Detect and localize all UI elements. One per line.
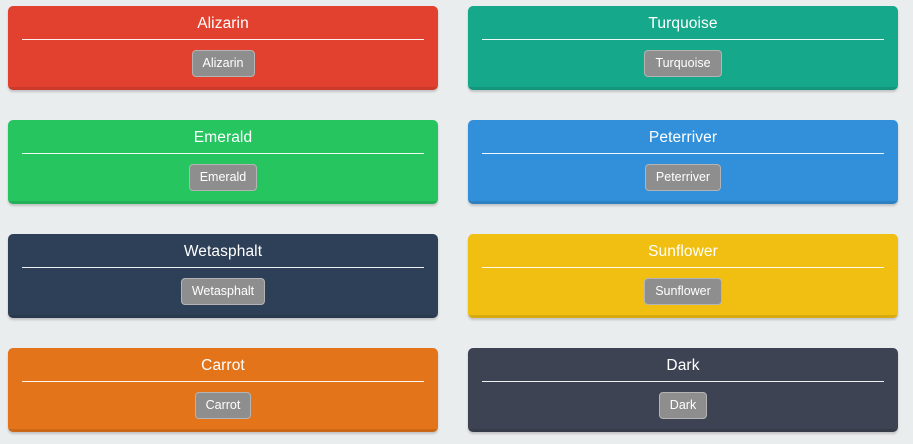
panel-title: Turquoise <box>482 14 884 33</box>
panel-title: Carrot <box>22 356 424 375</box>
panel-action-row: Peterriver <box>482 164 884 191</box>
panel-action-row: Wetasphalt <box>22 278 424 305</box>
panel-button-emerald[interactable]: Emerald <box>189 164 258 191</box>
panel-action-row: Sunflower <box>482 278 884 305</box>
color-panel-wetasphalt: Wetasphalt Wetasphalt <box>8 234 438 318</box>
panel-action-row: Turquoise <box>482 50 884 77</box>
color-panel-grid: Alizarin Alizarin Turquoise Turquoise Em… <box>0 0 913 432</box>
color-panel-peterriver: Peterriver Peterriver <box>468 120 898 204</box>
panel-button-carrot[interactable]: Carrot <box>195 392 252 419</box>
panel-action-row: Emerald <box>22 164 424 191</box>
color-panel-alizarin: Alizarin Alizarin <box>8 6 438 90</box>
panel-action-row: Dark <box>482 392 884 419</box>
panel-divider <box>22 153 424 154</box>
panel-button-peterriver[interactable]: Peterriver <box>645 164 721 191</box>
panel-button-dark[interactable]: Dark <box>659 392 707 419</box>
panel-divider <box>482 39 884 40</box>
panel-divider <box>22 381 424 382</box>
panel-divider <box>22 267 424 268</box>
panel-title: Sunflower <box>482 242 884 261</box>
panel-title: Dark <box>482 356 884 375</box>
color-panel-carrot: Carrot Carrot <box>8 348 438 432</box>
panel-title: Peterriver <box>482 128 884 147</box>
panel-button-alizarin[interactable]: Alizarin <box>192 50 255 77</box>
panel-title: Emerald <box>22 128 424 147</box>
color-panel-dark: Dark Dark <box>468 348 898 432</box>
panel-title: Wetasphalt <box>22 242 424 261</box>
panel-divider <box>22 39 424 40</box>
color-panel-emerald: Emerald Emerald <box>8 120 438 204</box>
panel-action-row: Carrot <box>22 392 424 419</box>
panel-title: Alizarin <box>22 14 424 33</box>
color-panel-sunflower: Sunflower Sunflower <box>468 234 898 318</box>
color-panel-turquoise: Turquoise Turquoise <box>468 6 898 90</box>
panel-divider <box>482 381 884 382</box>
panel-divider <box>482 267 884 268</box>
panel-divider <box>482 153 884 154</box>
panel-button-turquoise[interactable]: Turquoise <box>644 50 721 77</box>
panel-action-row: Alizarin <box>22 50 424 77</box>
panel-button-wetasphalt[interactable]: Wetasphalt <box>181 278 265 305</box>
panel-button-sunflower[interactable]: Sunflower <box>644 278 722 305</box>
